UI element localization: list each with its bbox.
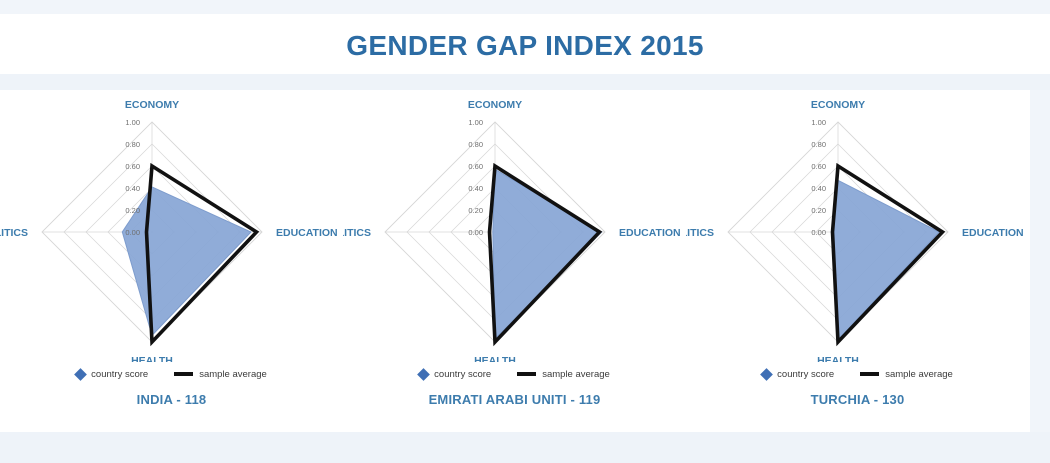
legend-label-country-score: country score xyxy=(91,369,148,380)
legend-item-country-score: country score xyxy=(762,369,834,380)
axis-label-economy: ECONOMY xyxy=(125,99,179,111)
page-title: GENDER GAP INDEX 2015 xyxy=(0,26,1050,66)
radar-series-country-score xyxy=(831,180,939,339)
svg-text:0.00: 0.00 xyxy=(811,228,826,237)
chart-caption-2: TURCHIA - 130 xyxy=(686,392,1029,407)
axis-label-education: EDUCATION xyxy=(619,227,681,239)
svg-text:1.00: 1.00 xyxy=(811,118,826,127)
panel-right-edge xyxy=(1030,90,1050,432)
axis-label-health: HEALTH xyxy=(474,355,516,362)
radar-plot-0[interactable]: 1.000.800.600.400.200.00ECONOMYEDUCATION… xyxy=(0,90,343,362)
axis-label-education: EDUCATION xyxy=(276,227,338,239)
svg-text:1.00: 1.00 xyxy=(468,118,483,127)
diamond-marker-icon xyxy=(760,368,773,381)
svg-text:0.40: 0.40 xyxy=(468,184,483,193)
legend-item-country-score: country score xyxy=(76,369,148,380)
chart-legend-1: country score sample average xyxy=(343,362,686,386)
legend-item-sample-average: sample average xyxy=(517,369,610,380)
svg-text:0.00: 0.00 xyxy=(125,228,140,237)
svg-text:0.00: 0.00 xyxy=(468,228,483,237)
line-marker-icon xyxy=(174,372,193,376)
chart-legend-2: country score sample average xyxy=(686,362,1029,386)
radar-chart-card-2[interactable]: 1.000.800.600.400.200.00ECONOMYEDUCATION… xyxy=(686,90,1029,432)
svg-text:0.40: 0.40 xyxy=(125,184,140,193)
axis-label-health: HEALTH xyxy=(817,355,859,362)
radar-plot-2[interactable]: 1.000.800.600.400.200.00ECONOMYEDUCATION… xyxy=(686,90,1029,362)
axis-label-education: EDUCATION xyxy=(962,227,1024,239)
line-marker-icon xyxy=(860,372,879,376)
legend-label-sample-average: sample average xyxy=(199,369,267,380)
legend-item-sample-average: sample average xyxy=(860,369,953,380)
svg-text:0.20: 0.20 xyxy=(125,206,140,215)
line-marker-icon xyxy=(517,372,536,376)
legend-label-sample-average: sample average xyxy=(542,369,610,380)
legend-item-country-score: country score xyxy=(419,369,491,380)
chart-caption-1: EMIRATI ARABI UNITI - 119 xyxy=(343,392,686,407)
axis-label-economy: ECONOMY xyxy=(468,99,522,111)
diamond-marker-icon xyxy=(74,368,87,381)
background-band-top xyxy=(0,0,1050,14)
svg-text:0.80: 0.80 xyxy=(811,140,826,149)
axis-label-politics: POLITICS xyxy=(0,227,28,239)
background-band-bottom xyxy=(0,432,1050,463)
axis-label-health: HEALTH xyxy=(131,355,173,362)
svg-text:0.60: 0.60 xyxy=(811,162,826,171)
axis-label-politics: POLITICS xyxy=(343,227,371,239)
radar-series-country-score xyxy=(122,187,251,336)
legend-label-country-score: country score xyxy=(434,369,491,380)
radar-chart-card-1[interactable]: 1.000.800.600.400.200.00ECONOMYEDUCATION… xyxy=(343,90,686,432)
chart-caption-0: INDIA - 118 xyxy=(0,392,343,407)
diamond-marker-icon xyxy=(417,368,430,381)
svg-text:0.40: 0.40 xyxy=(811,184,826,193)
svg-text:0.80: 0.80 xyxy=(125,140,140,149)
radar-plot-1[interactable]: 1.000.800.600.400.200.00ECONOMYEDUCATION… xyxy=(343,90,686,362)
svg-text:1.00: 1.00 xyxy=(125,118,140,127)
background-band-under-title xyxy=(0,74,1050,90)
radar-chart-card-0[interactable]: 1.000.800.600.400.200.00ECONOMYEDUCATION… xyxy=(0,90,343,432)
legend-item-sample-average: sample average xyxy=(174,369,267,380)
axis-label-economy: ECONOMY xyxy=(811,99,865,111)
chart-legend-0: country score sample average xyxy=(0,362,343,386)
svg-text:0.60: 0.60 xyxy=(125,162,140,171)
svg-text:0.80: 0.80 xyxy=(468,140,483,149)
svg-text:0.20: 0.20 xyxy=(811,206,826,215)
svg-text:0.60: 0.60 xyxy=(468,162,483,171)
legend-label-country-score: country score xyxy=(777,369,834,380)
axis-label-politics: POLITICS xyxy=(686,227,714,239)
svg-text:0.20: 0.20 xyxy=(468,206,483,215)
legend-label-sample-average: sample average xyxy=(885,369,953,380)
radar-series-country-score xyxy=(493,169,602,338)
charts-row: 1.000.800.600.400.200.00ECONOMYEDUCATION… xyxy=(0,90,1030,432)
